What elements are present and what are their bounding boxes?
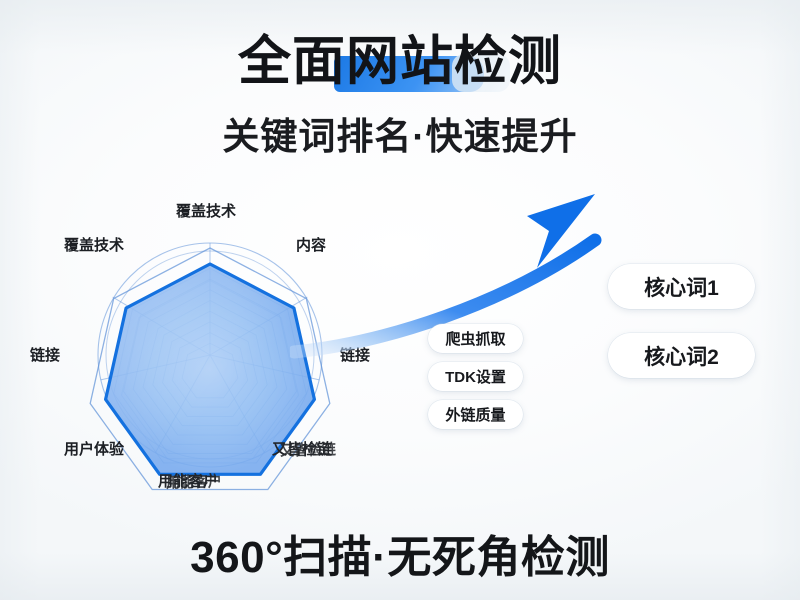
radar-label-top: 覆盖技术 [176,204,236,219]
page-title: 全面网站检测 [238,34,562,90]
tag-pill-backlink[interactable]: 外链质量 [428,400,523,429]
poster-canvas: 全面网站检测 关键词排名·快速提升 [0,0,800,600]
radar-label-upper-left: 覆盖技术 [64,238,124,253]
footer-slogan: 360°扫描·无死角检测 [0,521,800,585]
radar-label-lower-right: 又皆检链 又皆检链 [272,442,332,457]
radar-label-left: 链接 [30,348,60,363]
page-title-text: 全面网站检测 [238,32,562,91]
page-subtitle: 关键词排名·快速提升 [0,106,800,160]
tag-pill-tdk[interactable]: TDK设置 [428,362,523,391]
keyword-pill-2[interactable]: 核心词2 [608,333,755,378]
tag-pill-crawl[interactable]: 爬虫抓取 [428,324,523,353]
radar-label-upper-right: 内容 [296,238,326,253]
keyword-pill-1[interactable]: 核心词1 [608,264,755,309]
radar-label-right: 链接 [340,348,370,363]
radar-label-bottom: 用能客户 用能客户 [158,474,218,489]
title-block: 全面网站检测 关键词排名·快速提升 [0,34,800,160]
arrow-head [527,194,595,268]
radar-chart: 覆盖技术 内容 链接 又皆检链 又皆检链 用能客户 用能客户 用户体验 链接 覆… [18,196,408,516]
radar-label-lower-left: 用户体验 [64,442,124,457]
